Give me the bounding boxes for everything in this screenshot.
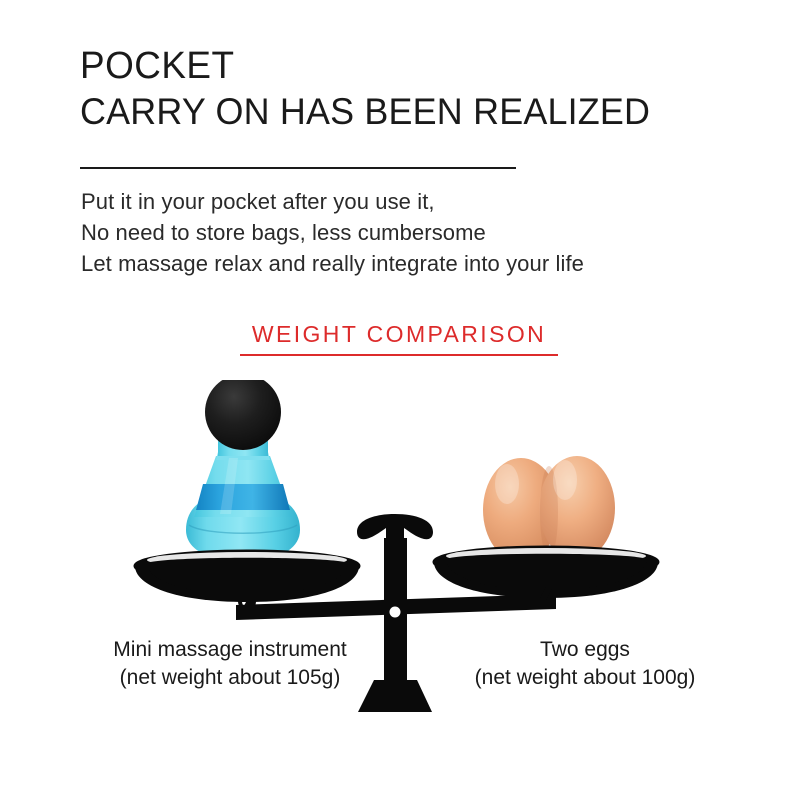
right-item-weight: (net weight about 100g) <box>420 664 750 692</box>
section-heading-label: WEIGHT COMPARISON <box>240 320 558 348</box>
page-title: POCKET CARRY ON HAS BEEN REALIZED <box>80 44 740 134</box>
left-item-weight: (net weight about 105g) <box>60 664 400 692</box>
right-item-name: Two eggs <box>420 636 750 664</box>
body-line-3: Let massage relax and really integrate i… <box>81 248 771 279</box>
body-copy: Put it in your pocket after you use it, … <box>81 186 771 279</box>
right-item-caption: Two eggs (net weight about 100g) <box>420 636 750 692</box>
right-pan-group <box>434 456 658 605</box>
title-line-1: POCKET <box>80 44 720 89</box>
section-heading: WEIGHT COMPARISON <box>240 320 558 356</box>
title-divider <box>80 167 516 169</box>
massage-gun-icon <box>186 380 300 561</box>
left-item-caption: Mini massage instrument (net weight abou… <box>60 636 400 692</box>
scale-pivot <box>390 607 401 618</box>
title-line-2: CARRY ON HAS BEEN REALIZED <box>80 89 720 134</box>
section-heading-underline <box>240 354 558 356</box>
body-line-2: No need to store bags, less cumbersome <box>81 217 771 248</box>
body-line-1: Put it in your pocket after you use it, <box>81 186 771 217</box>
left-pan-group <box>135 380 359 609</box>
promo-page: POCKET CARRY ON HAS BEEN REALIZED Put it… <box>0 0 790 795</box>
left-item-name: Mini massage instrument <box>60 636 400 664</box>
